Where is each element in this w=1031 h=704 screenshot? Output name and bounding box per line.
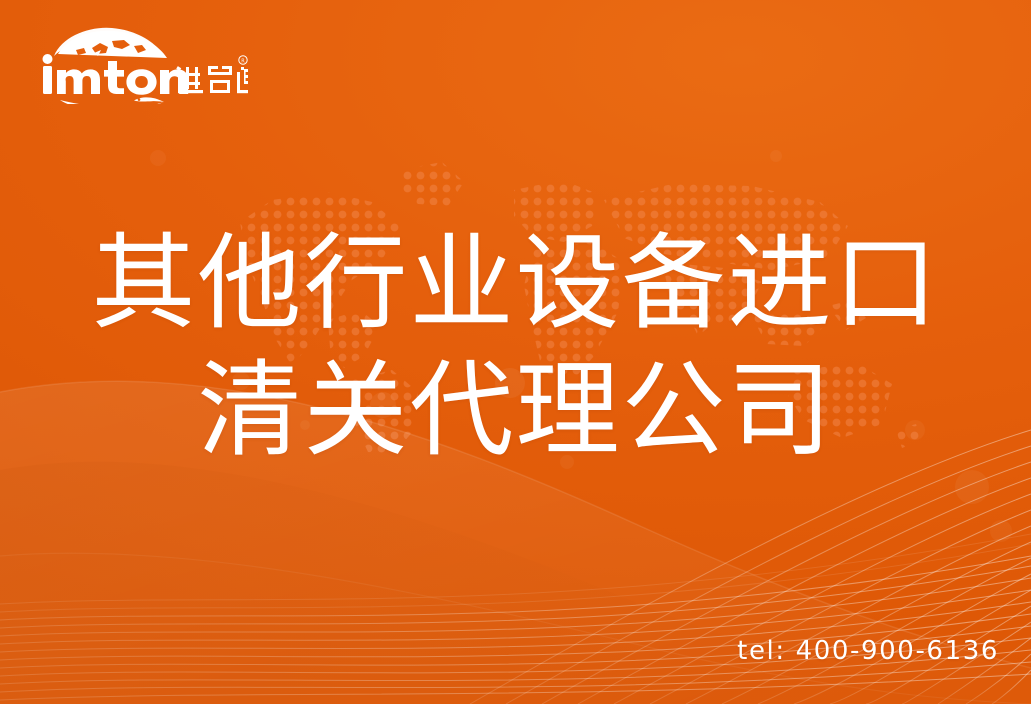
promo-banner: R 其他行业设备进口 清关代理公司 tel: 400-900-6136 (0, 0, 1031, 704)
svg-text:R: R (241, 58, 245, 64)
headline-line-2: 清关代理公司 (0, 349, 1031, 472)
page-title: 其他行业设备进口 清关代理公司 (0, 222, 1031, 471)
imton-logo[interactable]: R (38, 26, 248, 104)
contact-phone[interactable]: tel: 400-900-6136 (737, 636, 999, 666)
headline-line-1: 其他行业设备进口 (0, 222, 1031, 345)
